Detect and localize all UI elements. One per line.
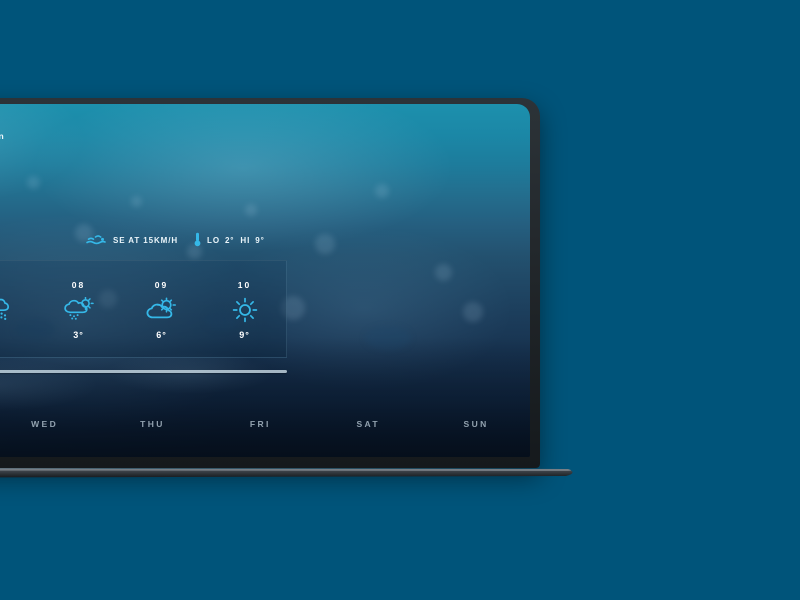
day-label: SUN [422, 419, 530, 429]
screenshot-canvas: Morpeth, Northumberland Add location [0, 0, 800, 600]
low-temperature: LO 2° [207, 236, 234, 245]
temperature-range-stat: LO 2° HI 9° [194, 232, 265, 249]
hourly-temp: 6° [156, 330, 167, 340]
high-temperature: HI 9° [240, 236, 264, 245]
hourly-cell[interactable]: 09 [120, 261, 203, 357]
laptop-device: Morpeth, Northumberland Add location [0, 98, 540, 476]
wind-icon [85, 233, 107, 248]
high-value: 9° [255, 236, 264, 245]
sun-icon [231, 297, 259, 323]
day-item-sat[interactable]: SAT [314, 419, 422, 429]
day-label: WED [0, 419, 99, 429]
laptop-base [0, 467, 578, 479]
low-label: LO [207, 236, 220, 245]
weather-app-ui: Morpeth, Northumberland Add location [0, 104, 530, 457]
day-item-fri[interactable]: FRI [206, 419, 314, 429]
add-location-button[interactable]: Add location [0, 130, 4, 141]
day-label: SAT [314, 419, 422, 429]
wind-value: SE AT 15KM/H [113, 236, 178, 245]
thermometer-icon [194, 232, 201, 249]
hourly-time: 09 [155, 280, 168, 290]
sun-cloud-icon [146, 297, 178, 323]
sun-cloud-sleet-icon [63, 297, 95, 323]
hourly-temp: 3° [73, 330, 84, 340]
hourly-cell[interactable]: 08 [37, 261, 120, 357]
add-location-label: Add location [0, 131, 4, 141]
day-item-sun[interactable]: SUN [422, 419, 530, 429]
laptop-lid: Morpeth, Northumberland Add location [0, 98, 540, 468]
laptop-screen: Morpeth, Northumberland Add location [0, 104, 530, 457]
hourly-forecast-panel[interactable]: Now 4° [0, 260, 287, 358]
high-label: HI [240, 236, 250, 245]
location-bar: Morpeth, Northumberland Add location [0, 130, 4, 141]
hourly-time: 07 [0, 280, 2, 290]
hourly-scrollbar[interactable] [0, 368, 287, 375]
hourly-time: 08 [72, 280, 85, 290]
hourly-cell[interactable]: 10 [203, 261, 286, 357]
day-label: FRI [206, 419, 314, 429]
low-value: 2° [225, 236, 234, 245]
day-item-thu[interactable]: THU [99, 419, 207, 429]
wind-stat: SE AT 15KM/H [85, 233, 178, 248]
sleet-cloud-icon [0, 297, 11, 323]
weather-stats: SE AT 15KM/H LO 2° [85, 232, 265, 249]
hourly-temp: 9° [239, 330, 250, 340]
day-label: THU [99, 419, 207, 429]
day-item-wed[interactable]: WED [0, 419, 99, 429]
scrollbar-track[interactable] [0, 370, 287, 373]
day-selector: MON TODAY TUESDAY WED THU [0, 404, 530, 444]
hourly-cell[interactable]: 07 [0, 261, 37, 357]
hourly-time: 10 [238, 280, 251, 290]
hourly-temp: 2° [0, 330, 1, 340]
